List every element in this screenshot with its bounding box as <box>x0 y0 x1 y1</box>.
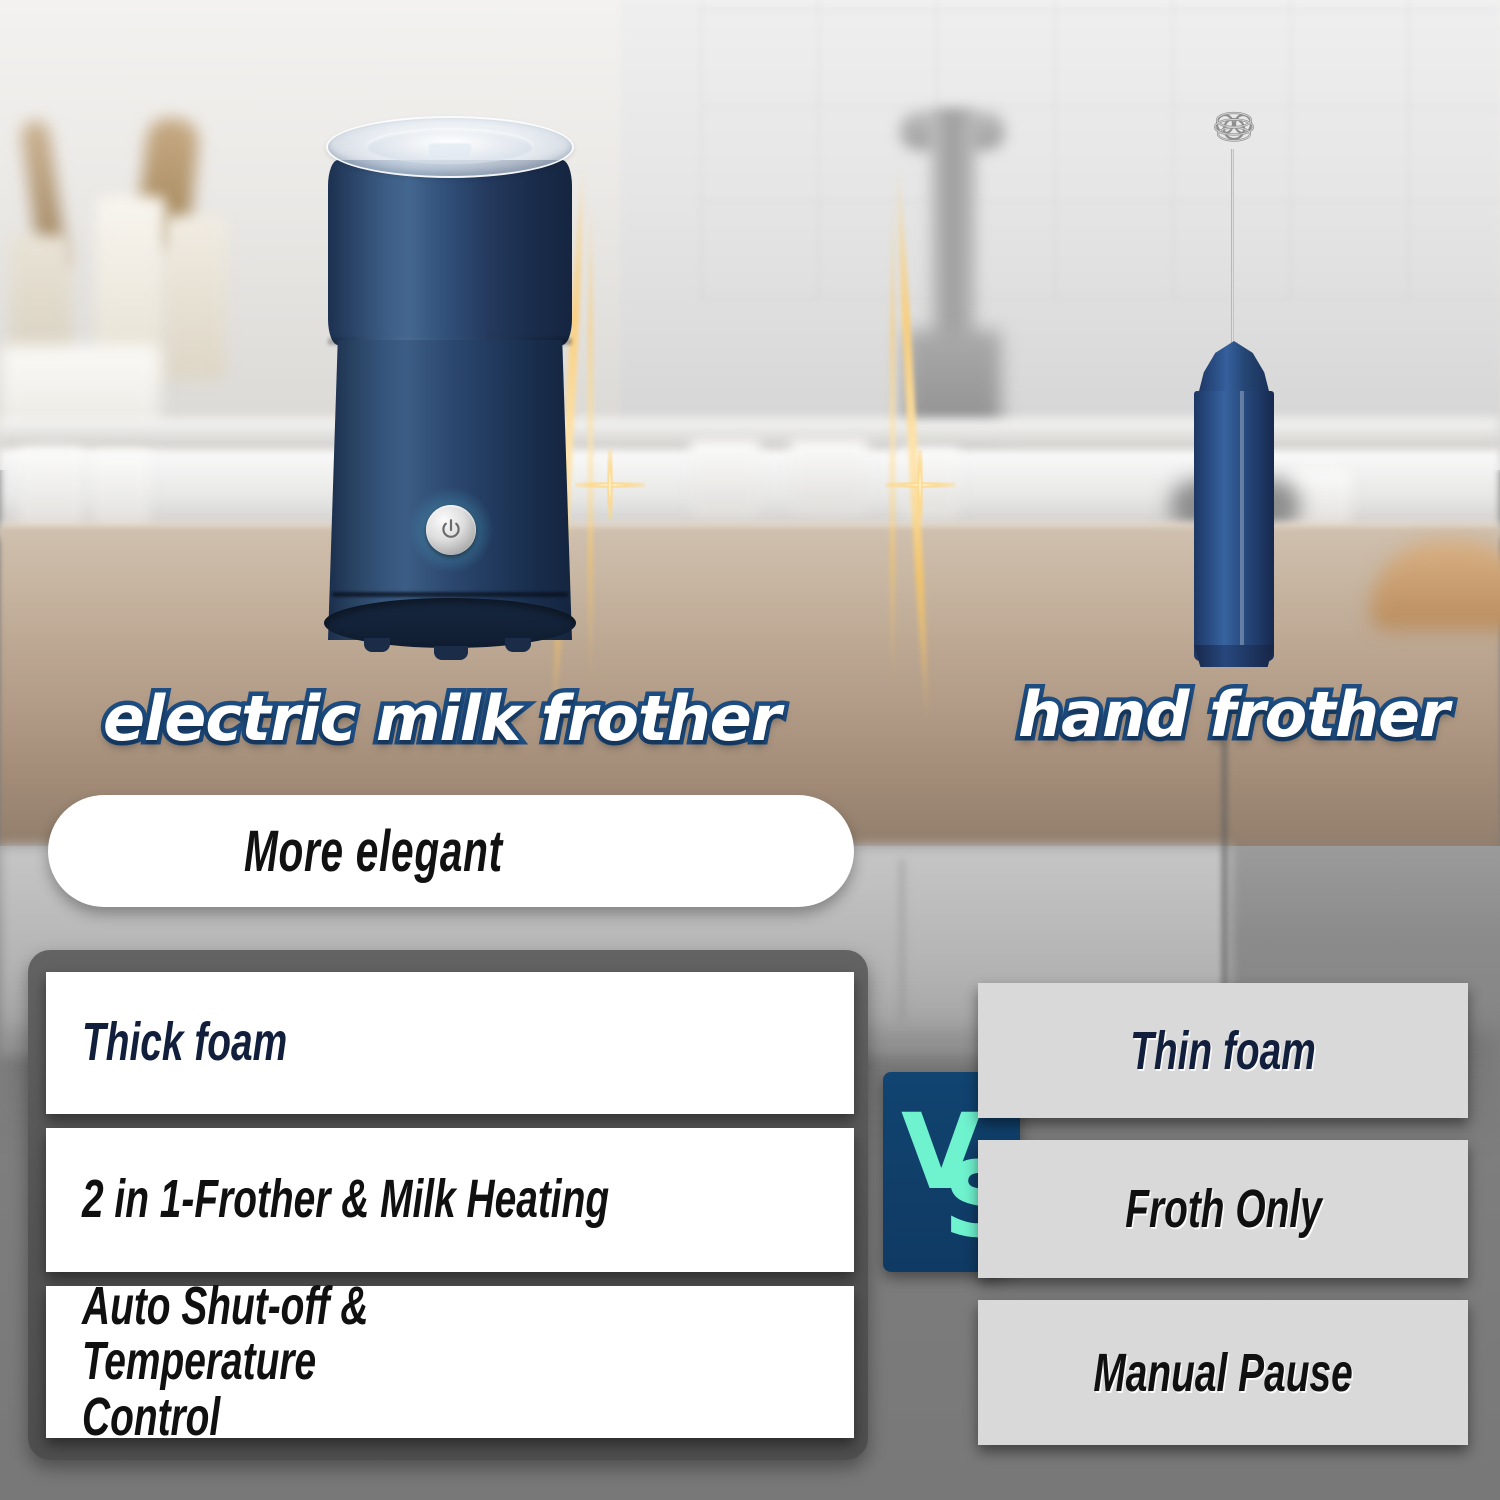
left-feature-label: Auto Shut-off & Temperature Control <box>82 1279 612 1444</box>
right-feature-label: Thin foam <box>1130 1020 1316 1082</box>
sparkle-star-left <box>575 450 645 520</box>
list-item: Auto Shut-off & Temperature Control <box>46 1286 854 1438</box>
sparkle-star-right <box>885 450 955 520</box>
frother-lid-tab <box>428 142 472 159</box>
electric-frother-title: electric milk frother <box>103 682 780 755</box>
electric-milk-frother-icon <box>300 100 600 670</box>
hand-frother-title: hand frother <box>1018 678 1449 751</box>
more-elegant-badge: More elegant <box>48 795 854 907</box>
right-feature-label: Froth Only <box>1125 1178 1322 1240</box>
hand-frother-handle <box>1194 391 1274 661</box>
right-feature-list: Thin foam Froth Only Manual Pause <box>978 983 1468 1467</box>
frother-body-upper <box>328 160 572 345</box>
left-feature-label: 2 in 1-Frother & Milk Heating <box>82 1172 609 1227</box>
backsplash-tiles <box>700 0 1500 300</box>
list-item: Froth Only <box>978 1140 1468 1278</box>
list-item: Thick foam <box>46 972 854 1114</box>
left-feature-label: Thick foam <box>82 1015 287 1070</box>
frother-foot <box>505 638 531 652</box>
frother-foot <box>364 638 390 652</box>
list-item: Manual Pause <box>978 1300 1468 1445</box>
left-feature-list: Thick foam 2 in 1-Frother & Milk Heating… <box>46 972 854 1452</box>
hand-frother-handle-base <box>1194 645 1274 667</box>
right-feature-label: Manual Pause <box>1093 1342 1352 1404</box>
frother-base-line <box>332 592 568 597</box>
frother-base <box>324 598 576 648</box>
cabinet-seam-center <box>900 860 904 1020</box>
jar-blur-2 <box>164 215 226 380</box>
power-icon <box>426 505 476 555</box>
frother-foot <box>434 646 468 660</box>
whisk-shaft <box>1231 149 1234 349</box>
sparkle-ray-left-2 <box>588 190 593 690</box>
whisk-head-icon <box>1198 105 1270 153</box>
more-elegant-label: More elegant <box>244 818 503 885</box>
cup-blur-2 <box>92 452 150 532</box>
sparkle-ray-right-2 <box>890 190 895 690</box>
list-item: Thin foam <box>978 983 1468 1118</box>
cup-blur-3 <box>690 440 760 518</box>
list-item: 2 in 1-Frother & Milk Heating <box>46 1128 854 1272</box>
hand-frother-icon <box>1150 105 1330 665</box>
infographic-canvas: electric milk frother hand frother More … <box>0 0 1500 1500</box>
hand-frother-cap <box>1198 341 1270 395</box>
cup-blur-4 <box>790 440 868 514</box>
